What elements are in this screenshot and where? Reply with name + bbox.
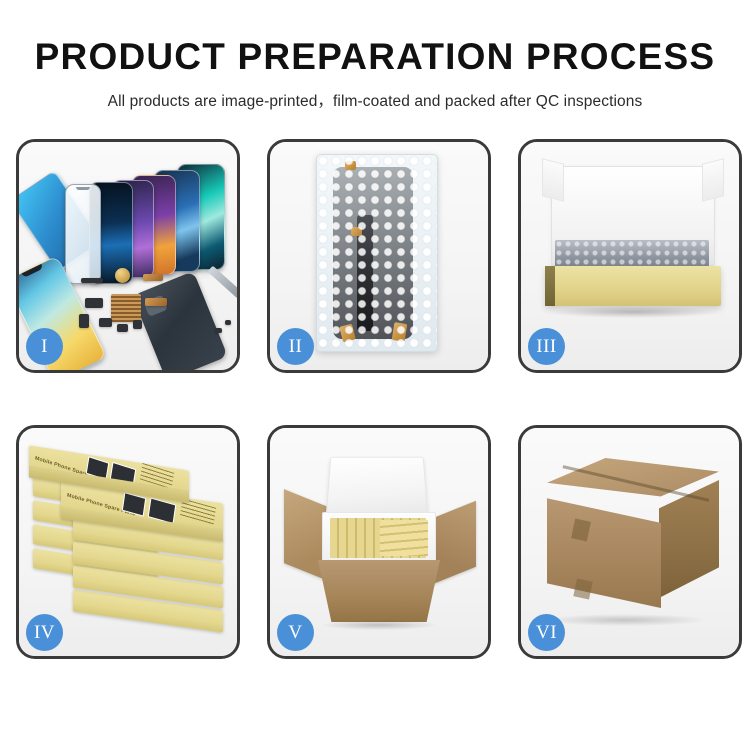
step-badge-1: I bbox=[26, 328, 63, 365]
phone-housing-icon bbox=[132, 271, 228, 373]
battery-tab-part-icon bbox=[99, 318, 112, 327]
step-badge-6: VI bbox=[528, 614, 565, 651]
carton-front-face bbox=[547, 496, 661, 608]
box-stack-icon: Mobile Phone Spare Parts Mobile Phone Sp… bbox=[27, 452, 235, 642]
step-badge-2: II bbox=[277, 328, 314, 365]
carton-side-face bbox=[659, 480, 719, 598]
flex-cable-part-icon bbox=[143, 274, 163, 281]
kraft-box-base-icon bbox=[545, 266, 721, 306]
step-panel-4: Mobile Phone Spare Parts Mobile Phone Sp… bbox=[16, 425, 240, 659]
page-subtitle: All products are image-printed，film-coat… bbox=[0, 89, 750, 111]
carton-body-icon bbox=[318, 560, 440, 622]
step-panel-6: VI bbox=[518, 425, 742, 659]
box-shadow bbox=[551, 306, 717, 318]
carton-tape-lower bbox=[573, 579, 592, 600]
screen-protector-icon bbox=[65, 184, 101, 284]
step-badge-5: V bbox=[277, 614, 314, 651]
sealed-carton-shadow bbox=[545, 614, 705, 626]
ribbon-part-icon bbox=[145, 298, 167, 306]
process-steps-grid: I II III bbox=[16, 139, 742, 659]
box-spec-lines-front bbox=[180, 498, 216, 525]
tape-tab-right-icon bbox=[392, 322, 408, 342]
page-header: PRODUCT PREPARATION PROCESS All products… bbox=[0, 0, 750, 111]
step-panel-2: II bbox=[267, 139, 491, 373]
step-panel-5: V bbox=[267, 425, 491, 659]
screw-part-icon bbox=[215, 328, 222, 333]
step-panel-1: I bbox=[16, 139, 240, 373]
sim-tray-part-icon bbox=[133, 320, 142, 329]
sealed-carton-icon bbox=[547, 458, 719, 618]
step-panel-3: III bbox=[518, 139, 742, 373]
step-badge-4: IV bbox=[26, 614, 63, 651]
camera-part-icon bbox=[85, 298, 103, 308]
connector-part-icon bbox=[79, 314, 89, 328]
tweezers-icon bbox=[207, 266, 240, 299]
step-badge-3: III bbox=[528, 328, 565, 365]
tape-tab-mid-icon bbox=[351, 227, 362, 236]
wrapped-screen-icon bbox=[333, 167, 413, 339]
inner-boxes-stack-icon bbox=[380, 520, 428, 556]
page-title: PRODUCT PREPARATION PROCESS bbox=[0, 38, 750, 75]
tape-tab-top-icon bbox=[345, 161, 356, 170]
logic-board-part-icon bbox=[111, 294, 141, 322]
button-part-icon bbox=[117, 324, 128, 332]
speaker-part-icon bbox=[115, 268, 130, 283]
bubble-wrap-bag-icon bbox=[316, 154, 438, 352]
bracket-part-icon bbox=[81, 278, 103, 283]
foam-lid-open-icon bbox=[325, 457, 428, 521]
carton-shadow bbox=[322, 620, 436, 630]
screw-part-2-icon bbox=[225, 320, 231, 325]
